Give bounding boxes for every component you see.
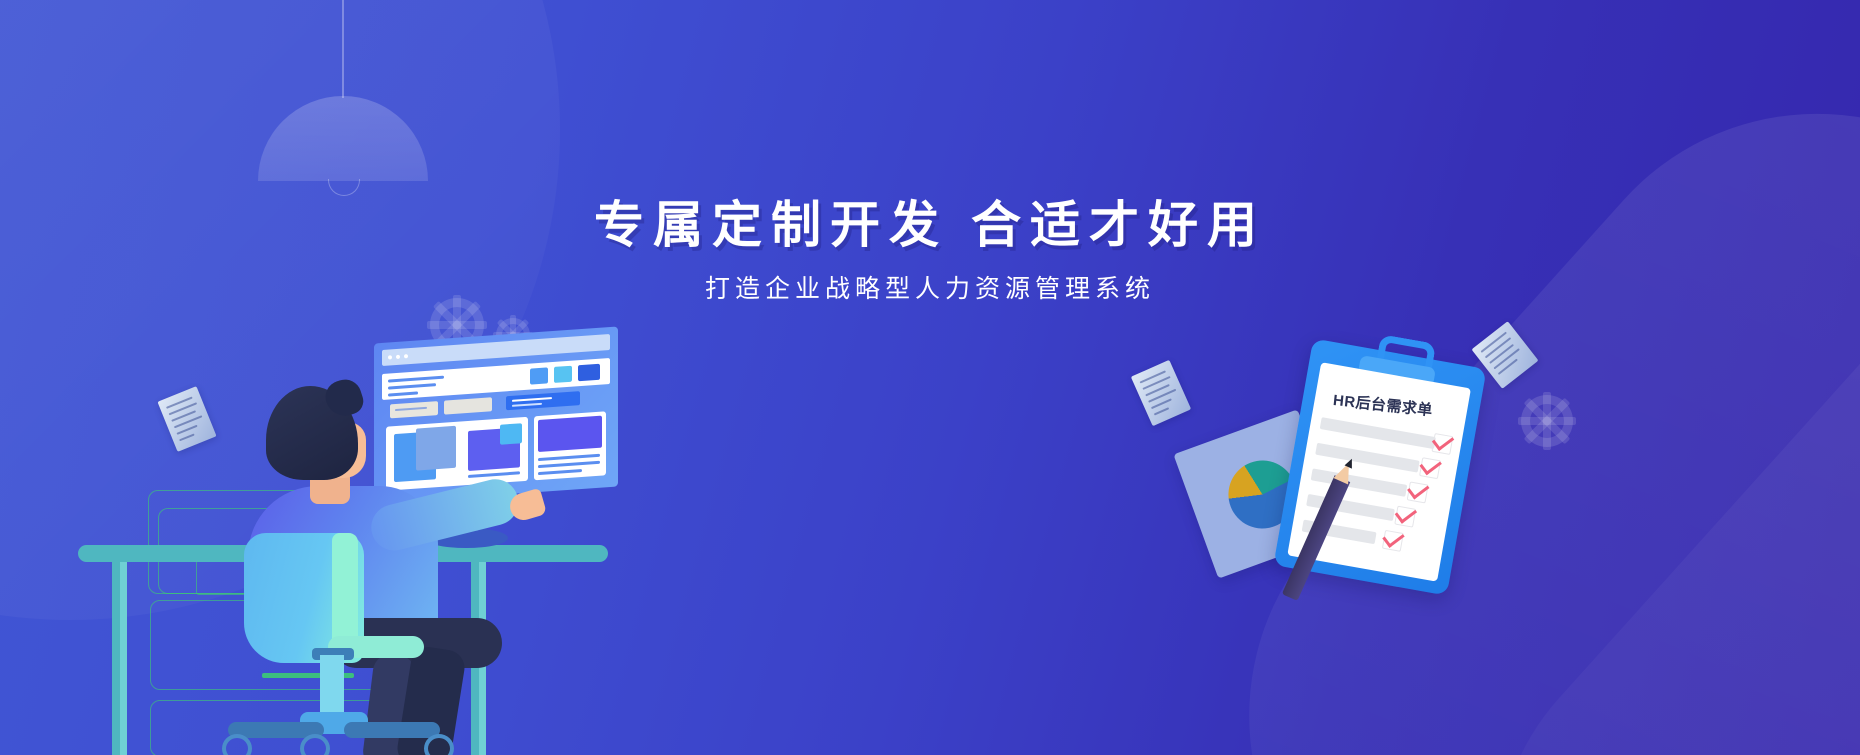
- office-chair-post: [320, 655, 344, 717]
- clipboard-task-row: [1315, 443, 1420, 473]
- clipboard-task-row: [1311, 468, 1408, 496]
- headline-block: 专属定制开发 合适才好用 打造企业战略型人力资源管理系统: [0, 196, 1860, 306]
- page-title: 专属定制开发 合适才好用: [0, 196, 1860, 255]
- clipboard-title: HR后台需求单: [1332, 389, 1452, 422]
- hero-banner: HR后台需求单 专属定制开发 合适才好用 打造企业战略型人力资源管理系统: [0, 0, 1860, 755]
- lamp-shade: [258, 96, 428, 181]
- clipboard-task-row: [1320, 417, 1436, 449]
- office-chair-spoke-right: [344, 722, 440, 738]
- page-subtitle: 打造企业战略型人力资源管理系统: [0, 273, 1860, 306]
- desk-leg-left-highlight: [120, 562, 127, 755]
- document-icon: [1131, 360, 1191, 426]
- lamp-bulb: [328, 179, 360, 196]
- lamp-cord: [342, 0, 344, 98]
- screen-panel-right: [534, 411, 606, 480]
- document-icon: [157, 386, 216, 452]
- gear-icon-right: [1521, 395, 1573, 447]
